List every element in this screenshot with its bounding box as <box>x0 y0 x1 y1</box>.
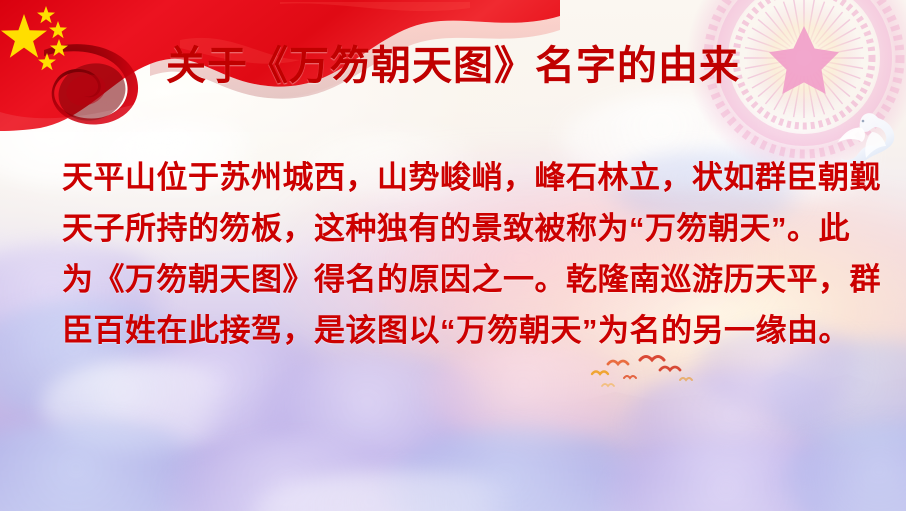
body-paragraph: 天平山位于苏州城西，山势峻峭，峰石林立，状如群臣朝觐 天子所持的笏板，这种独有的… <box>62 152 850 356</box>
body-line: 天子所持的笏板，这种独有的景致被称为“万笏朝天”。此 <box>62 203 850 254</box>
body-line: 天平山位于苏州城西，山势峻峭，峰石林立，状如群臣朝觐 <box>62 152 850 203</box>
presentation-slide: 关于《万笏朝天图》名字的由来 天平山位于苏州城西，山势峻峭，峰石林立，状如群臣朝… <box>0 0 906 511</box>
page-title: 关于《万笏朝天图》名字的由来 <box>0 44 906 88</box>
body-line: 臣百姓在此接驾，是该图以“万笏朝天”为名的另一缘由。 <box>62 305 850 356</box>
body-line: 为《万笏朝天图》得名的原因之一。乾隆南巡游历天平，群 <box>62 254 850 305</box>
